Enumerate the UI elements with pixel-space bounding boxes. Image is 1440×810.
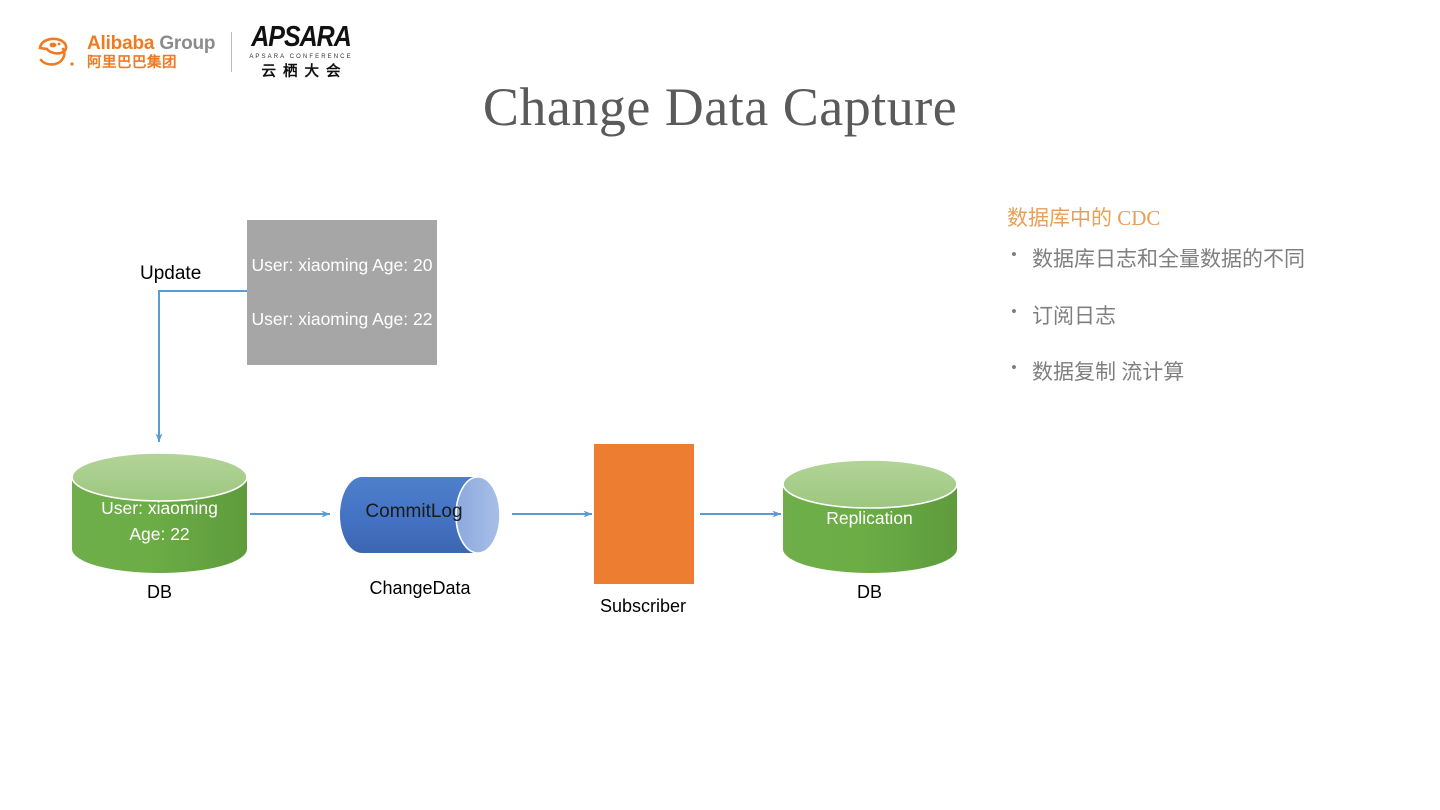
db-target-caption: DB (782, 582, 957, 603)
db-source-label: User: xiaoming Age: 22 (72, 495, 247, 548)
db-target-label: Replication (782, 508, 957, 529)
record-before: User: xiaoming Age: 20 (252, 252, 433, 280)
subscriber-caption: Subscriber (553, 596, 733, 617)
notes-item: 数据库日志和全量数据的不同 (1007, 245, 1407, 273)
notes-item: 数据复制 流计算 (1007, 358, 1407, 386)
commitlog-label: CommitLog (334, 501, 494, 523)
notes-item: 订阅日志 (1007, 302, 1407, 330)
subscriber-rect (594, 444, 694, 584)
update-connector-arrow (159, 291, 247, 442)
slide-root: Alibaba Group 阿里巴巴集团 APSARA APSARA CONFE… (0, 0, 1440, 810)
record-change-box: User: xiaoming Age: 20 User: xiaoming Ag… (247, 220, 437, 365)
db-source-caption: DB (72, 582, 247, 603)
update-arrow-label: Update (140, 263, 201, 285)
record-after: User: xiaoming Age: 22 (252, 306, 433, 334)
notes-heading: 数据库中的 CDC (1007, 205, 1407, 232)
commitlog-caption: ChangeData (330, 578, 510, 599)
notes-panel: 数据库中的 CDC 数据库日志和全量数据的不同 订阅日志 数据复制 流计算 (1007, 205, 1407, 414)
notes-list: 数据库日志和全量数据的不同 订阅日志 数据复制 流计算 (1007, 245, 1407, 386)
